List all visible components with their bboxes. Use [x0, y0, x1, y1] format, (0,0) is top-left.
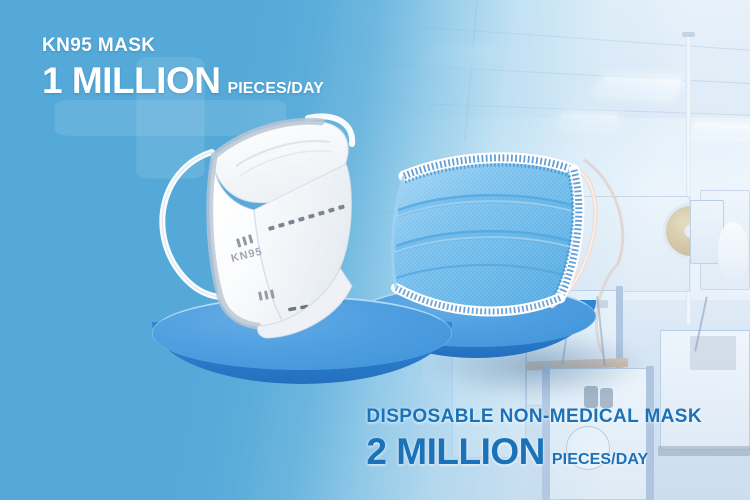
surgical-mask [388, 148, 608, 338]
kn95-callout: KN95 MASK 1 MILLION PIECES/DAY [42, 36, 324, 99]
mask-capacity-banner: KN95 [0, 0, 750, 500]
kn95-callout-kicker: KN95 MASK [42, 36, 324, 55]
kn95-mask-svg: KN95 [140, 110, 400, 340]
surgical-callout: DISPOSABLE NON-MEDICAL MASK 2 MILLION PI… [366, 407, 702, 470]
surgical-callout-amount: 2 MILLION [366, 433, 544, 470]
surgical-mask-svg [388, 148, 608, 338]
surgical-callout-kicker: DISPOSABLE NON-MEDICAL MASK [366, 407, 702, 426]
kn95-callout-line: 1 MILLION PIECES/DAY [42, 62, 324, 99]
kn95-callout-amount: 1 MILLION [42, 62, 220, 99]
kn95-callout-unit: PIECES/DAY [227, 81, 323, 97]
surgical-callout-line: 2 MILLION PIECES/DAY [366, 433, 702, 470]
surgical-callout-unit: PIECES/DAY [552, 452, 648, 468]
kn95-mask: KN95 [140, 110, 400, 340]
